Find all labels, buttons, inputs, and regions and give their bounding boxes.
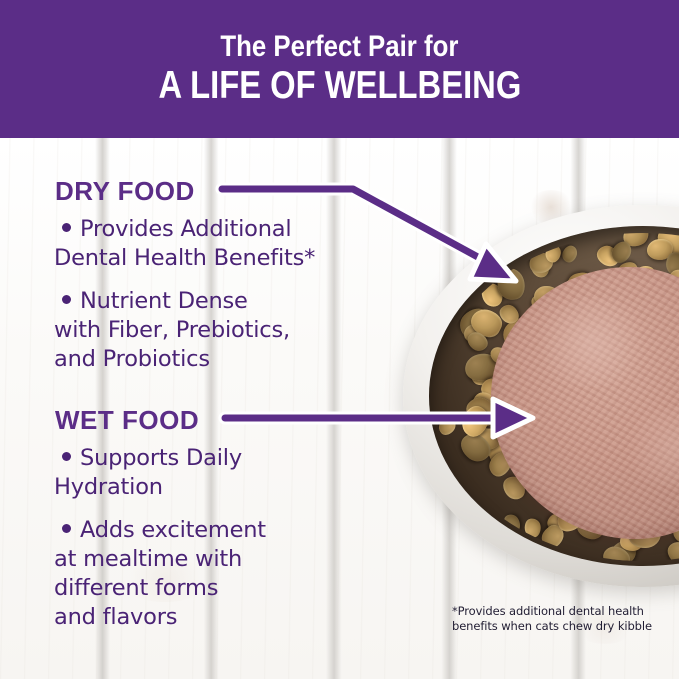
footnote-line1: *Provides additional dental health: [452, 604, 672, 619]
footnote-disclaimer: *Provides additional dental health benef…: [452, 604, 672, 634]
benefit-list-dry-food: Provides AdditionalDental Health Benefit…: [54, 215, 374, 374]
infographic-page: The Perfect Pair for A LIFE OF WELLBEING…: [0, 0, 679, 679]
bullet-text: with Fiber, Prebiotics,: [54, 316, 374, 345]
bullet-text: and flavors: [54, 603, 374, 632]
benefit-bullet: Nutrient Densewith Fiber, Prebiotics,and…: [54, 287, 374, 374]
benefit-bullet: Supports DailyHydration: [54, 444, 374, 502]
kibble-piece: [560, 244, 580, 265]
food-bowl-photo: [403, 205, 679, 587]
benefit-bullet: Adds excitementat mealtime withdifferent…: [54, 516, 374, 632]
bullet-text: Hydration: [54, 473, 374, 502]
wet-food-pate: [491, 267, 679, 539]
section-heading-dry-food: DRY FOOD: [55, 176, 195, 207]
banner-headline-line2: A LIFE OF WELLBEING: [158, 66, 521, 107]
bullet-dot-icon: [62, 524, 71, 533]
bullet-first-line: Nutrient Dense: [54, 287, 374, 316]
pate-highlight: [531, 297, 651, 387]
bullet-text: and Probiotics: [54, 345, 374, 374]
bullet-first-line: Adds excitement: [54, 516, 374, 545]
benefit-bullet: Provides AdditionalDental Health Benefit…: [54, 215, 374, 273]
footnote-line2: benefits when cats chew dry kibble: [452, 619, 672, 634]
bullet-text: Dental Health Benefits*: [54, 244, 374, 273]
kibble-piece: [663, 537, 679, 561]
bullet-text: different forms: [54, 574, 374, 603]
bullet-first-line: Provides Additional: [54, 215, 374, 244]
bullet-text: at mealtime with: [54, 545, 374, 574]
bullet-text: Adds excitement: [80, 517, 266, 543]
header-banner: The Perfect Pair for A LIFE OF WELLBEING: [0, 0, 679, 138]
bullet-text: Provides Additional: [80, 216, 291, 242]
bullet-first-line: Supports Daily: [54, 444, 374, 473]
bullet-dot-icon: [62, 452, 71, 461]
bullet-text: Nutrient Dense: [80, 288, 248, 314]
section-heading-wet-food: WET FOOD: [55, 405, 199, 436]
bullet-text: Supports Daily: [80, 445, 242, 471]
benefit-list-wet-food: Supports DailyHydrationAdds excitementat…: [54, 444, 374, 632]
banner-headline-line1: The Perfect Pair for: [220, 31, 458, 63]
bullet-dot-icon: [62, 295, 71, 304]
bullet-dot-icon: [62, 223, 71, 232]
